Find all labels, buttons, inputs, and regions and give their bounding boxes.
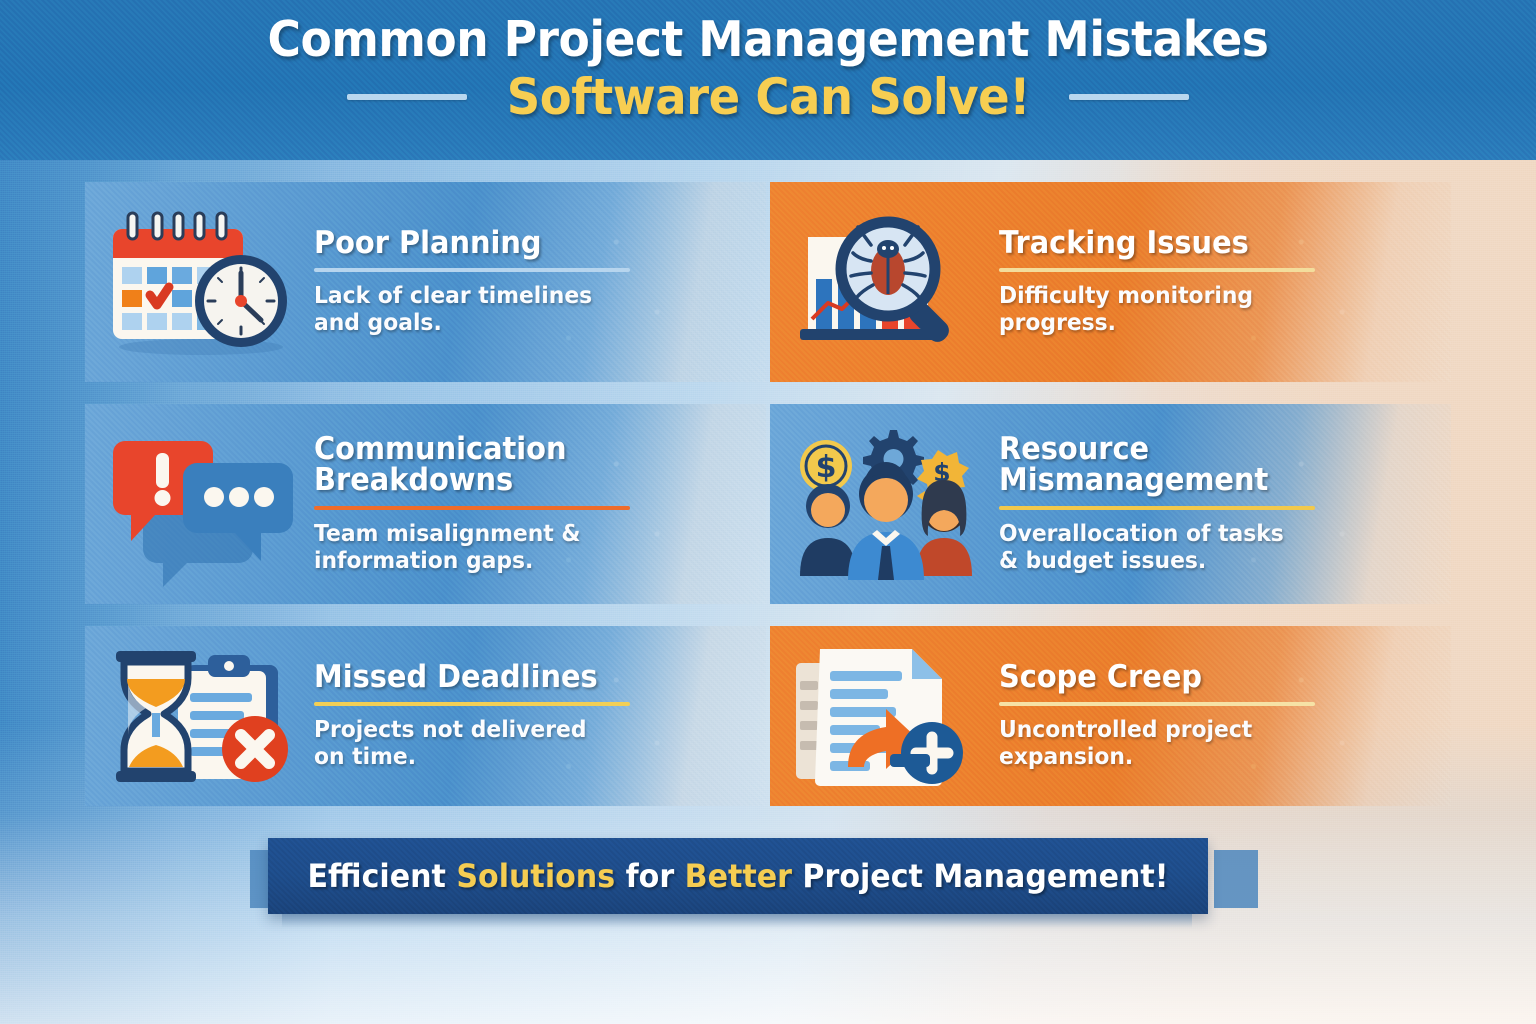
bug-magnifier-chart-icon bbox=[778, 182, 993, 382]
ribbon-drop-shadow bbox=[282, 914, 1192, 928]
footer-tagline-segment: Efficient bbox=[307, 857, 456, 895]
card-title: Resource Mismanagement bbox=[999, 434, 1414, 497]
title-rule-left bbox=[347, 94, 467, 100]
card-description: Team misalignment & information gaps. bbox=[314, 521, 738, 574]
footer-ribbon-wrap: Efficient Solutions for Better Project M… bbox=[0, 838, 1536, 930]
card-description: Uncontrolled project expansion. bbox=[999, 717, 1423, 770]
card-missed-deadlines[interactable]: Missed Deadlines Projects not delivered … bbox=[85, 626, 766, 806]
card-resource-mismanagement[interactable]: $ $ bbox=[770, 404, 1451, 604]
page-title-line1: Common Project Management Mistakes bbox=[54, 14, 1482, 67]
document-arrow-plus-icon bbox=[778, 626, 993, 806]
card-title-underline bbox=[999, 268, 1315, 272]
card-title-underline bbox=[314, 268, 630, 272]
footer-tagline-segment: for bbox=[615, 857, 685, 895]
card-title: Missed Deadlines bbox=[314, 662, 729, 694]
card-text-tracking-issues: Tracking Issues Difficulty monitoring pr… bbox=[993, 228, 1445, 337]
card-title-underline bbox=[314, 506, 630, 510]
footer-tagline-segment: Solutions bbox=[456, 857, 615, 895]
card-text-poor-planning: Poor Planning Lack of clear timelines an… bbox=[308, 228, 760, 337]
page-title-line2: Software Can Solve! bbox=[506, 71, 1029, 124]
mistake-card-grid: Poor Planning Lack of clear timelines an… bbox=[85, 182, 1451, 806]
card-description: Difficulty monitoring progress. bbox=[999, 283, 1423, 336]
card-title-underline bbox=[999, 506, 1315, 510]
footer-ribbon: Efficient Solutions for Better Project M… bbox=[268, 838, 1208, 914]
header-banner: Common Project Management Mistakes Softw… bbox=[0, 0, 1536, 160]
footer-tagline: Efficient Solutions for Better Project M… bbox=[307, 857, 1168, 895]
card-text-scope-creep: Scope Creep Uncontrolled project expansi… bbox=[993, 662, 1445, 771]
infographic-canvas: Common Project Management Mistakes Softw… bbox=[0, 0, 1536, 1024]
card-description: Overallocation of tasks & budget issues. bbox=[999, 521, 1423, 574]
page-subtitle-row: Software Can Solve! bbox=[0, 71, 1536, 124]
card-title: Poor Planning bbox=[314, 228, 729, 260]
card-poor-planning[interactable]: Poor Planning Lack of clear timelines an… bbox=[85, 182, 766, 382]
card-description: Lack of clear timelines and goals. bbox=[314, 283, 738, 336]
ribbon-tail-right bbox=[1214, 850, 1258, 908]
calendar-clock-icon bbox=[93, 182, 308, 382]
card-text-resource-mismanagement: Resource Mismanagement Overallocation of… bbox=[993, 434, 1445, 575]
card-title: Tracking Issues bbox=[999, 228, 1414, 260]
card-communication-breakdowns[interactable]: Communication Breakdowns Team misalignme… bbox=[85, 404, 766, 604]
title-rule-right bbox=[1069, 94, 1189, 100]
card-text-communication-breakdowns: Communication Breakdowns Team misalignme… bbox=[308, 434, 760, 575]
team-gear-money-icon: $ $ bbox=[778, 404, 993, 604]
footer-tagline-segment: Better bbox=[685, 857, 792, 895]
card-title-underline bbox=[999, 702, 1315, 706]
card-title-underline bbox=[314, 702, 630, 706]
svg-text:$: $ bbox=[815, 450, 836, 485]
footer-tagline-segment: Project Management! bbox=[792, 857, 1169, 895]
card-description: Projects not delivered on time. bbox=[314, 717, 738, 770]
card-scope-creep[interactable]: Scope Creep Uncontrolled project expansi… bbox=[770, 626, 1451, 806]
card-title: Communication Breakdowns bbox=[314, 434, 729, 497]
card-title: Scope Creep bbox=[999, 662, 1414, 694]
card-text-missed-deadlines: Missed Deadlines Projects not delivered … bbox=[308, 662, 760, 771]
hourglass-clipboard-x-icon bbox=[93, 626, 308, 806]
card-tracking-issues[interactable]: Tracking Issues Difficulty monitoring pr… bbox=[770, 182, 1451, 382]
speech-bubbles-icon bbox=[93, 404, 308, 604]
